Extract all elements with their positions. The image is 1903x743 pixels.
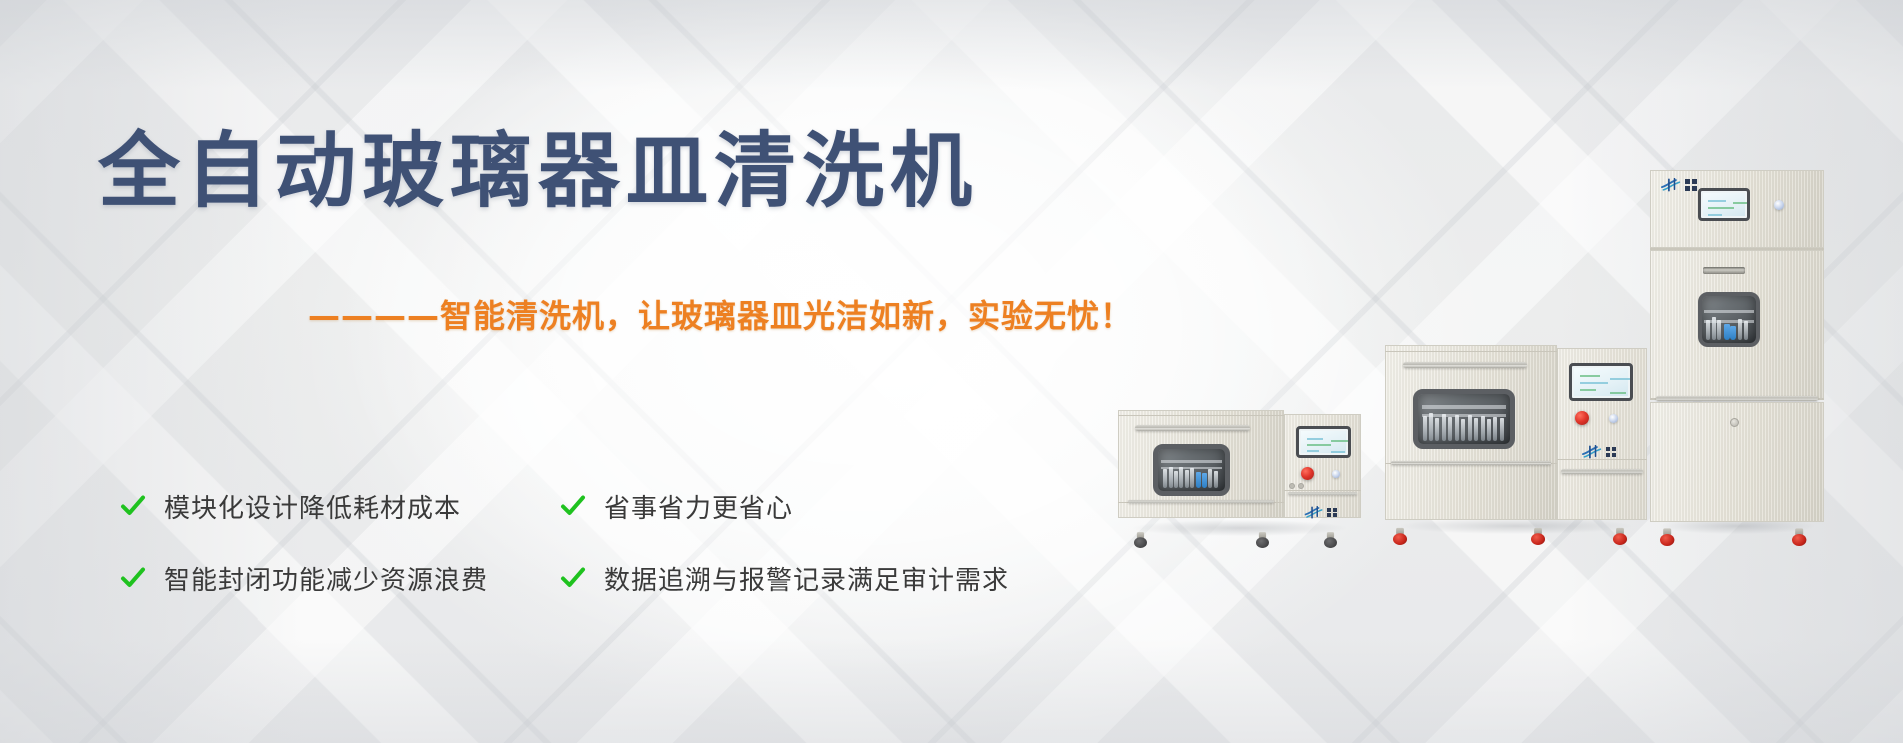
brand-logo xyxy=(1304,506,1337,519)
caster-wheel xyxy=(1660,528,1674,546)
top-seam xyxy=(1118,415,1284,416)
power-button[interactable] xyxy=(1609,414,1618,423)
door-handle xyxy=(1403,362,1527,368)
product-image-group xyxy=(0,0,1903,743)
brand-mark-blocks xyxy=(1327,508,1337,518)
power-button[interactable] xyxy=(1332,470,1340,478)
product-shadow xyxy=(1133,520,1347,536)
emergency-stop-button[interactable] xyxy=(1575,411,1589,425)
hmi-screen xyxy=(1703,193,1745,216)
air-vent xyxy=(1703,267,1745,274)
power-button[interactable] xyxy=(1774,200,1784,210)
service-door-handle xyxy=(1561,469,1643,474)
indicator-lights xyxy=(1289,483,1304,489)
product-image-small xyxy=(1118,410,1361,530)
viewing-window xyxy=(1153,444,1230,496)
caster-wheel xyxy=(1134,532,1147,548)
drawer-handle xyxy=(1391,461,1551,465)
hmi-screen xyxy=(1574,368,1628,396)
product-shadow xyxy=(1401,518,1632,534)
panel-seam xyxy=(1284,490,1361,491)
caster-wheel xyxy=(1792,528,1806,546)
hmi-touchscreen[interactable] xyxy=(1698,188,1750,221)
viewing-window xyxy=(1413,389,1515,449)
service-door-handle xyxy=(1288,492,1357,495)
brand-mark-blocks xyxy=(1685,179,1697,191)
caster-wheel xyxy=(1324,532,1337,548)
product-banner: 全自动玻璃器皿清洗机 ————智能清洗机，让玻璃器皿光洁如新，实验无忧！ 模块化… xyxy=(0,0,1903,743)
hmi-touchscreen[interactable] xyxy=(1569,363,1633,401)
caster-wheel xyxy=(1613,528,1627,545)
brand-mark-blocks xyxy=(1606,447,1616,457)
door-handle xyxy=(1135,425,1250,431)
hmi-touchscreen[interactable] xyxy=(1296,426,1351,458)
brand-logo xyxy=(1660,178,1697,192)
caster-wheel xyxy=(1256,532,1269,548)
glassware-load xyxy=(1418,394,1510,444)
glassware-load xyxy=(1702,296,1756,343)
caster-wheel xyxy=(1531,528,1545,545)
top-seam xyxy=(1385,351,1557,352)
glassware-load xyxy=(1158,449,1225,491)
drawer-handle xyxy=(1128,500,1274,503)
viewing-window xyxy=(1698,292,1760,347)
hmi-screen xyxy=(1301,431,1346,453)
cabinet-lock[interactable] xyxy=(1730,418,1739,427)
product-image-medium xyxy=(1385,345,1647,528)
emergency-stop-button[interactable] xyxy=(1301,467,1314,480)
caster-wheel xyxy=(1393,528,1407,545)
brand-logo xyxy=(1581,445,1616,459)
product-image-large xyxy=(1650,170,1824,528)
drawer-handle xyxy=(1656,396,1818,401)
panel-seam xyxy=(1557,459,1647,460)
